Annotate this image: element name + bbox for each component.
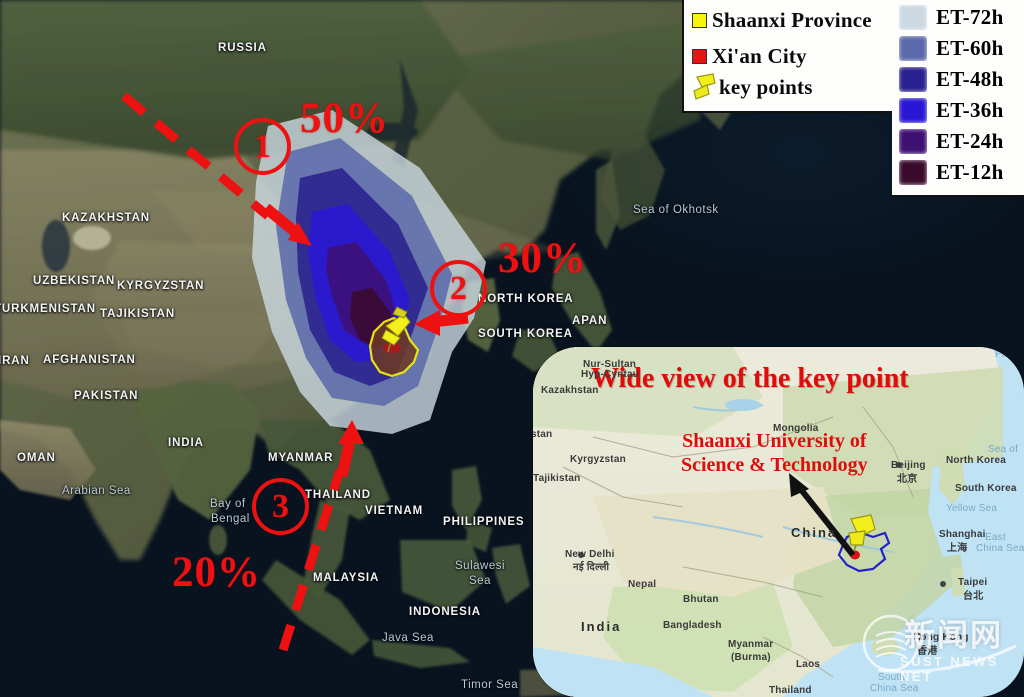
legend-scale-row: ET-60h [892,33,1024,64]
legend-scale-row: ET-24h [892,126,1024,157]
inset-map-label: South Korea [955,483,1017,494]
legend-scale-row: ET-12h [892,157,1024,188]
legend-scale-label: ET-72h [936,5,1004,30]
pushpin-icon [688,71,718,103]
inset-map-label: Bhutan [683,594,719,605]
legend-scale-swatch [899,129,927,154]
inset-map-label: Nepal [628,579,656,590]
inset-map-label: Hyp-Cyntau [581,369,639,380]
inset-university-label: Shaanxi University of Science & Technolo… [681,430,868,477]
arrow-1 [266,208,312,246]
annotation-marker-2: 2 [430,260,487,317]
inset-map-label: Sea of [988,444,1018,455]
inset-map-label: Thailand [769,685,812,696]
legend-scale-row: ET-72h [892,2,1024,33]
legend-scale-swatch [899,160,927,185]
legend-symbols-panel: Shaanxi Province Xi'an City key points [682,0,896,113]
legend-scale-swatch [899,67,927,92]
arrow-3 [338,420,364,476]
annotation-marker-1: 1 [234,118,291,175]
legend-scale-row: ET-48h [892,64,1024,95]
annotation-percent-3: 20% [172,548,261,597]
inset-univ-line2: Science & Technology [681,454,868,478]
legend-scale-swatch [899,98,927,123]
annotation-percent-1: 50% [300,94,389,143]
legend-scale-label: ET-36h [936,98,1004,123]
legend-label-shaanxi: Shaanxi Province [712,8,872,33]
legend-scale-label: ET-24h [936,129,1004,154]
inset-map-label: Kazakhstan [541,385,599,396]
inset-map-label: Mongolia [773,423,818,434]
inset-map-label: South [878,672,905,683]
inset-basemap [533,347,1024,697]
inset-map-label: Pacific [995,349,1024,360]
annotation-percent-2: 30% [498,234,587,283]
inset-map-label: Tajikistan [533,473,580,484]
legend-label-xian: Xi'an City [712,44,807,69]
inset-map-label: stan [533,429,552,440]
inset-map-label: Laos [796,659,820,670]
inset-map-label: Yellow Sea [946,503,997,514]
legend-scale-panel: ET-72hET-60hET-48hET-36hET-24hET-12h [892,0,1024,197]
inset-map-label: East [985,532,1006,543]
legend-item-keypoints: key points [688,71,894,103]
inset-map-label: China Sea [976,543,1024,554]
inset-map-label: नई दिल्ली [573,559,609,573]
inset-map-label: India [581,619,621,634]
yellow-square-icon [692,13,707,28]
legend-scale-label: ET-60h [936,36,1004,61]
figure-root: RUSSIAKAZAKHSTANUZBEKISTANKYRGYZSTANTURK… [0,0,1024,697]
legend-scale-row: ET-36h [892,95,1024,126]
annotation-marker-3: 3 [252,478,309,535]
inset-map-label: China Sea [870,683,919,694]
legend-scale-swatch [899,36,927,61]
inset-map-label: 北京 [897,470,917,485]
inset-map: Wide view of the key point Shaanxi Unive… [533,347,1024,697]
legend-label-keypoints: key points [719,75,813,100]
red-square-icon [692,49,707,64]
legend-scale-swatch [899,5,927,30]
legend-item-xian: Xi'an City [692,44,894,69]
inset-map-label: (Burma) [731,652,771,663]
inset-map-label: China [791,525,837,540]
inset-map-label: 香港 [917,642,937,657]
inset-map-label: Kyrgyzstan [570,454,626,465]
inset-map-label: Myanmar [728,639,773,650]
inset-map-label: 台北 [963,587,983,602]
legend-scale-label: ET-12h [936,160,1004,185]
legend-scale-label: ET-48h [936,67,1004,92]
inset-map-label: 上海 [947,539,967,554]
legend-item-shaanxi: Shaanxi Province [692,8,894,33]
inset-map-label: Bangladesh [663,620,722,631]
inset-map-label: North Korea [946,455,1006,466]
